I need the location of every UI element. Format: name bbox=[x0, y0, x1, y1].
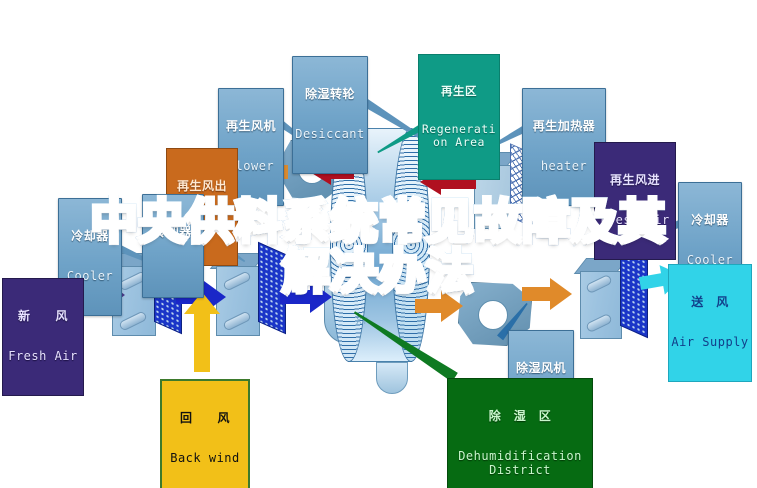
label-regeneration-area[interactable]: 再生区 Regenerati on Area bbox=[418, 54, 500, 180]
label-dehumid-district-cn: 除 湿 区 bbox=[450, 410, 590, 423]
label-dehumid-district[interactable]: 除 湿 区 Dehumidification District bbox=[447, 378, 593, 488]
label-cooler-right-cn: 冷却器 bbox=[681, 214, 739, 227]
label-fresh-air-inlet-cn: 新 风 bbox=[5, 310, 81, 323]
label-regen-fresh-air[interactable]: 再生风进 Fresh Air bbox=[594, 142, 676, 260]
label-fresh-air-inlet[interactable]: 新 风 Fresh Air bbox=[2, 278, 84, 396]
label-back-wind-en: Back wind bbox=[164, 452, 246, 465]
label-regen-heater-cn: 再生加热器 bbox=[525, 120, 603, 133]
label-regeneration-area-cn: 再生区 bbox=[421, 85, 497, 98]
label-regen-fresh-air-en: Fresh Air bbox=[597, 214, 673, 227]
label-regeneration-area-en: Regenerati on Area bbox=[421, 123, 497, 149]
label-regen-blower-cn: 再生风机 bbox=[221, 120, 281, 133]
label-dehumid-district-en: Dehumidification District bbox=[450, 450, 590, 477]
label-air-supply[interactable]: 送 风 Air Supply bbox=[668, 264, 752, 382]
diagram-canvas: XT bbox=[0, 0, 757, 488]
label-cooler-left-2-cn: 冷却器 bbox=[145, 226, 201, 239]
label-back-wind[interactable]: 回 风 Back wind bbox=[160, 379, 250, 488]
label-fresh-air-inlet-en: Fresh Air bbox=[5, 350, 81, 363]
label-regen-fresh-air-cn: 再生风进 bbox=[597, 174, 673, 187]
label-air-supply-cn: 送 风 bbox=[671, 296, 749, 309]
label-air-supply-en: Air Supply bbox=[671, 336, 749, 349]
label-cooler-left-1-cn: 冷却器 bbox=[61, 230, 119, 243]
label-regen-exhaust-cn: 再生风出 bbox=[169, 180, 235, 193]
label-dehumid-blower-cn: 除湿风机 bbox=[511, 362, 571, 375]
label-desiccant-wheel[interactable]: 除湿转轮 Desiccant bbox=[292, 56, 368, 174]
label-desiccant-wheel-en: Desiccant bbox=[295, 128, 365, 141]
label-desiccant-wheel-cn: 除湿转轮 bbox=[295, 88, 365, 101]
label-back-wind-cn: 回 风 bbox=[164, 412, 246, 425]
label-cooler-left-2[interactable]: 冷却器 bbox=[142, 194, 204, 298]
label-regen-heater-en: heater bbox=[525, 160, 603, 173]
